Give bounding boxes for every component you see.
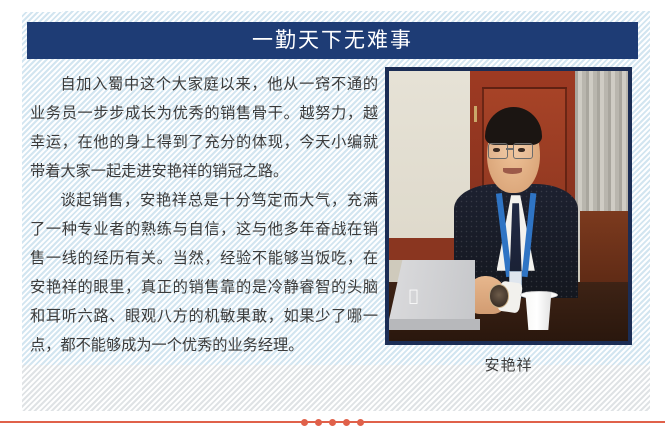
footer-dot-decoration [0, 414, 665, 430]
photo-mouth [503, 168, 522, 174]
page-title: 一勤天下无难事 [252, 30, 413, 51]
footer-dot [329, 419, 336, 426]
footer-dot [343, 419, 350, 426]
article-body: 自加入蜀中这个大家庭以来，他从一窍不通的业务员一步步成长为优秀的销售骨干。越努力… [30, 70, 378, 360]
apple-logo-icon:  [406, 287, 422, 304]
photo-eye-left [493, 148, 500, 152]
photo-door-handle [474, 106, 477, 122]
photo-eye-right [518, 148, 525, 152]
footer-dot [315, 419, 322, 426]
footer-dot [301, 419, 308, 426]
photo-laptop-base [385, 319, 480, 330]
paragraph-1: 自加入蜀中这个大家庭以来，他从一窍不通的业务员一步步成长为优秀的销售骨干。越努力… [30, 70, 378, 186]
top-left-margin-fade [0, 0, 62, 12]
photo-chair [580, 211, 628, 287]
footer-dot [357, 419, 364, 426]
photo-caption: 安艳祥 [385, 354, 632, 375]
title-banner: 一勤天下无难事 [27, 22, 638, 59]
portrait-photo:  [389, 71, 628, 341]
paragraph-2: 谈起销售，安艳祥总是十分笃定而大气，充满了一种专业者的熟练与自信，这与他多年奋战… [30, 186, 378, 360]
photo-glasses-bridge [506, 148, 513, 149]
photo-frame:  [385, 67, 632, 345]
photo-laptop-lid [385, 260, 475, 325]
page-canvas: 一勤天下无难事 自加入蜀中这个大家庭以来，他从一窍不通的业务员一步步成长为优秀的… [0, 0, 665, 442]
